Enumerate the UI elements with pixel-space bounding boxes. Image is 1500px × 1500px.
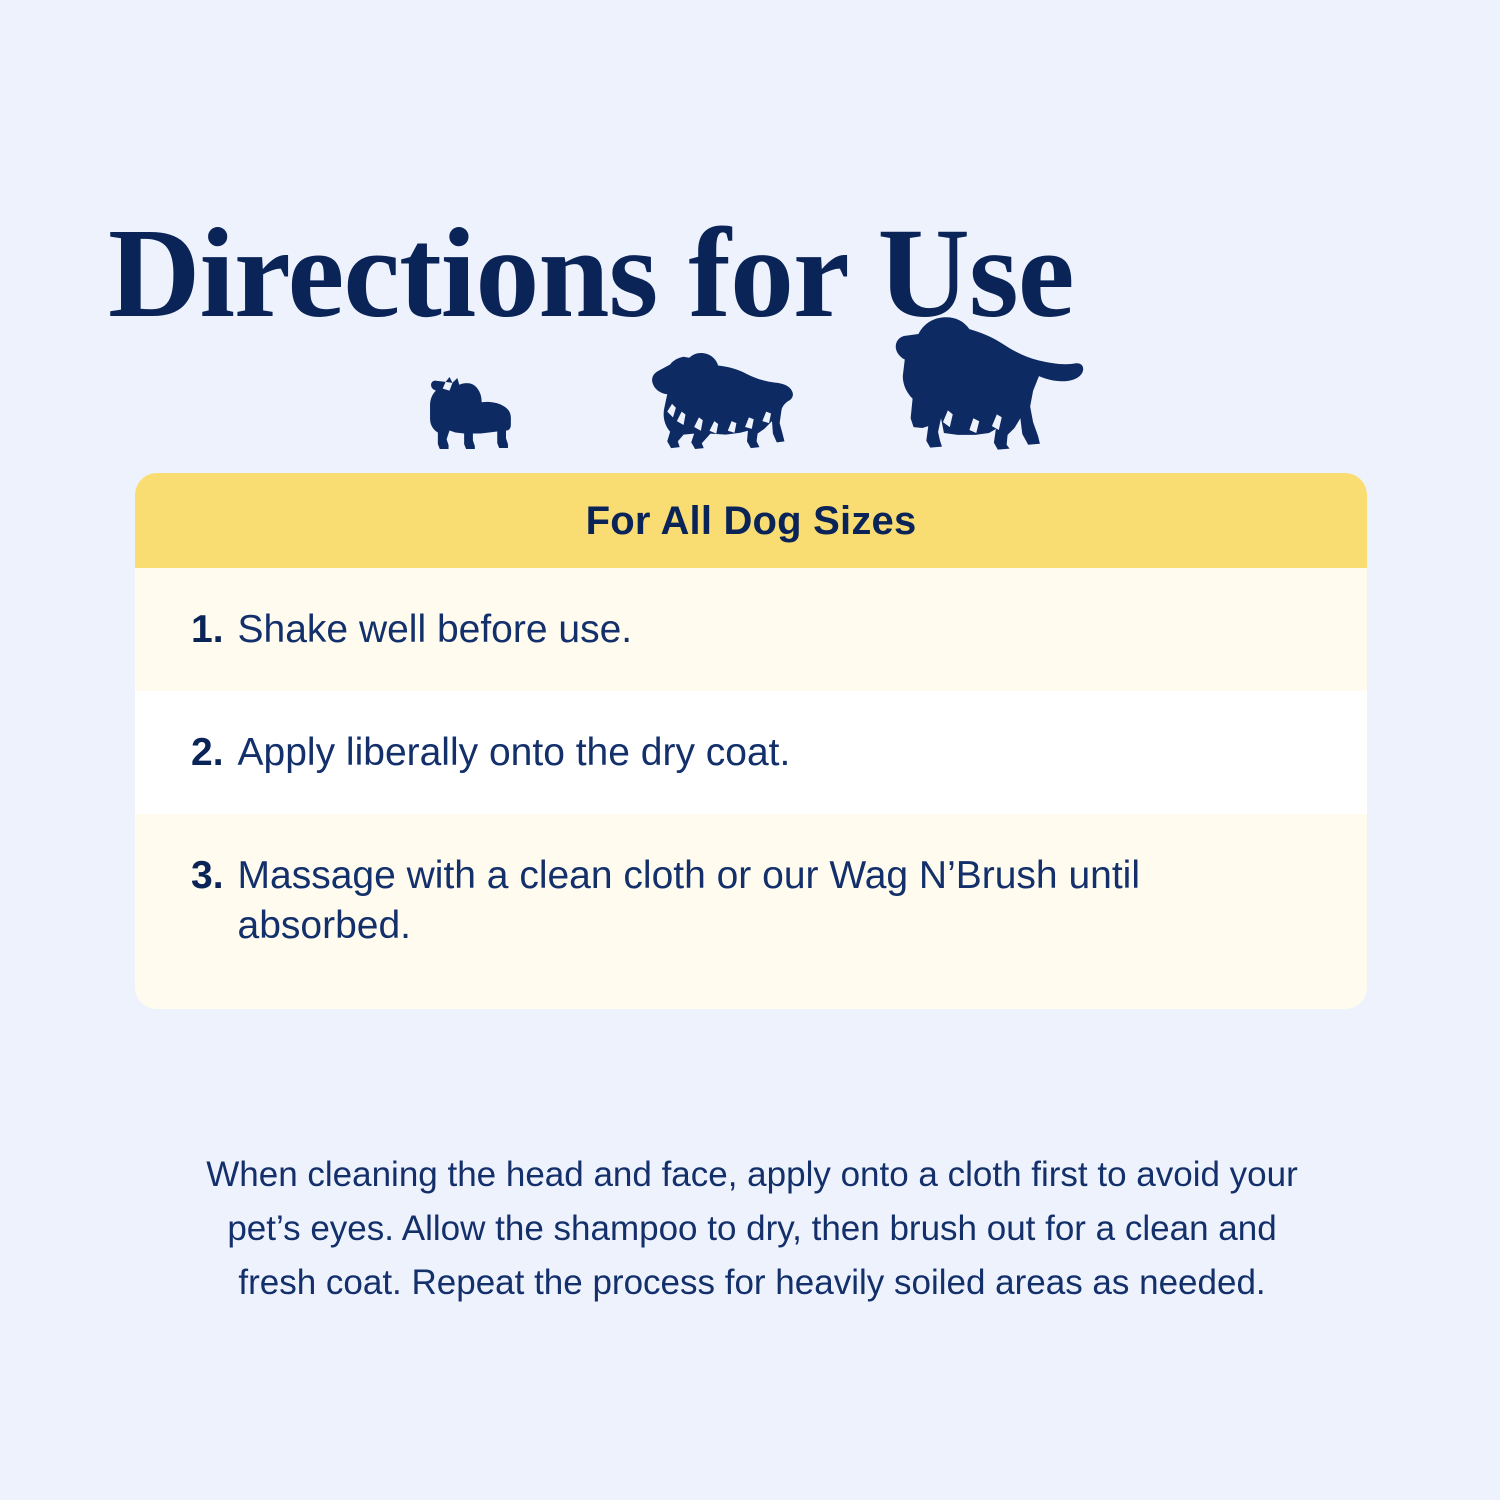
instructions-card: For All Dog Sizes 1. Shake well before u… <box>135 473 1367 1009</box>
instruction-step-2: 2. Apply liberally onto the dry coat. <box>135 691 1367 814</box>
step-text: Apply liberally onto the dry coat. <box>238 728 791 778</box>
small-dog-silhouette <box>420 376 518 450</box>
step-number: 2. <box>191 728 224 778</box>
step-text: Massage with a clean cloth or our Wag N’… <box>238 851 1298 951</box>
step-number: 1. <box>191 605 224 655</box>
step-number: 3. <box>191 851 224 901</box>
card-header: For All Dog Sizes <box>135 473 1367 568</box>
instruction-step-3: 3. Massage with a clean cloth or our Wag… <box>135 814 1367 1009</box>
large-dog-silhouette <box>893 316 1085 450</box>
directions-for-use-page: Directions for Use For All Dog Sizes 1. … <box>0 0 1500 1500</box>
dog-size-illustration-row <box>0 305 1500 450</box>
medium-dog-silhouette <box>648 352 796 450</box>
footnote-paragraph: When cleaning the head and face, apply o… <box>202 1148 1302 1310</box>
card-header-title: For All Dog Sizes <box>586 499 917 543</box>
step-text: Shake well before use. <box>238 605 633 655</box>
instruction-step-1: 1. Shake well before use. <box>135 568 1367 691</box>
